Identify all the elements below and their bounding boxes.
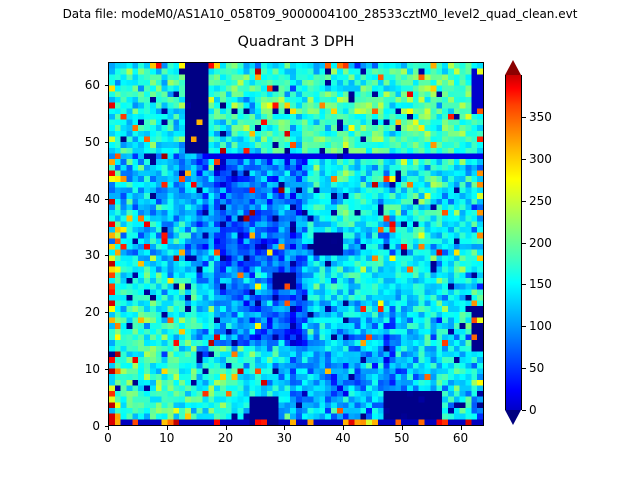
x-tick-label: 30 xyxy=(264,431,304,445)
y-tick-label: 50 xyxy=(60,135,100,149)
page-title: Quadrant 3 DPH xyxy=(108,33,484,51)
x-tick-mark xyxy=(343,426,344,430)
y-tick-mark xyxy=(105,142,109,143)
x-tick-label: 0 xyxy=(88,431,128,445)
colorbar-tick-mark xyxy=(522,326,526,327)
colorbar-tick-label: 300 xyxy=(529,152,552,166)
x-tick-mark xyxy=(226,426,227,430)
colorbar-under-arrow-icon xyxy=(505,410,521,425)
y-tick-label: 0 xyxy=(60,419,100,433)
y-tick-mark xyxy=(105,85,109,86)
x-tick-label: 40 xyxy=(323,431,363,445)
colorbar-tick-mark xyxy=(522,117,526,118)
y-tick-label: 10 xyxy=(60,362,100,376)
y-tick-mark xyxy=(105,426,109,427)
colorbar-tick-mark xyxy=(522,201,526,202)
x-tick-mark xyxy=(284,426,285,430)
colorbar-tick-mark xyxy=(522,284,526,285)
y-tick-mark xyxy=(105,369,109,370)
figure-canvas: Data file: modeM0/AS1A10_058T09_90000041… xyxy=(0,0,640,480)
heatmap-axes xyxy=(108,62,484,426)
colorbar-gradient xyxy=(505,75,522,410)
x-tick-label: 50 xyxy=(382,431,422,445)
x-tick-mark xyxy=(461,426,462,430)
colorbar[interactable] xyxy=(505,60,522,425)
x-tick-label: 10 xyxy=(147,431,187,445)
colorbar-tick-label: 50 xyxy=(529,361,544,375)
heatmap-image xyxy=(109,63,483,425)
colorbar-tick-label: 350 xyxy=(529,110,552,124)
y-tick-label: 60 xyxy=(60,78,100,92)
colorbar-tick-label: 200 xyxy=(529,236,552,250)
colorbar-tick-label: 0 xyxy=(529,403,537,417)
x-tick-mark xyxy=(167,426,168,430)
y-tick-label: 20 xyxy=(60,305,100,319)
x-tick-label: 60 xyxy=(441,431,481,445)
colorbar-tick-mark xyxy=(522,368,526,369)
y-tick-mark xyxy=(105,255,109,256)
y-tick-mark xyxy=(105,199,109,200)
data-file-caption: Data file: modeM0/AS1A10_058T09_90000041… xyxy=(0,6,640,22)
colorbar-tick-label: 150 xyxy=(529,277,552,291)
colorbar-tick-mark xyxy=(522,159,526,160)
x-tick-label: 20 xyxy=(206,431,246,445)
y-tick-mark xyxy=(105,312,109,313)
colorbar-tick-mark xyxy=(522,410,526,411)
colorbar-tick-mark xyxy=(522,243,526,244)
x-tick-mark xyxy=(402,426,403,430)
colorbar-tick-label: 250 xyxy=(529,194,552,208)
colorbar-tick-label: 100 xyxy=(529,319,552,333)
y-tick-label: 30 xyxy=(60,248,100,262)
x-tick-mark xyxy=(108,426,109,430)
colorbar-over-arrow-icon xyxy=(505,60,521,75)
y-tick-label: 40 xyxy=(60,192,100,206)
